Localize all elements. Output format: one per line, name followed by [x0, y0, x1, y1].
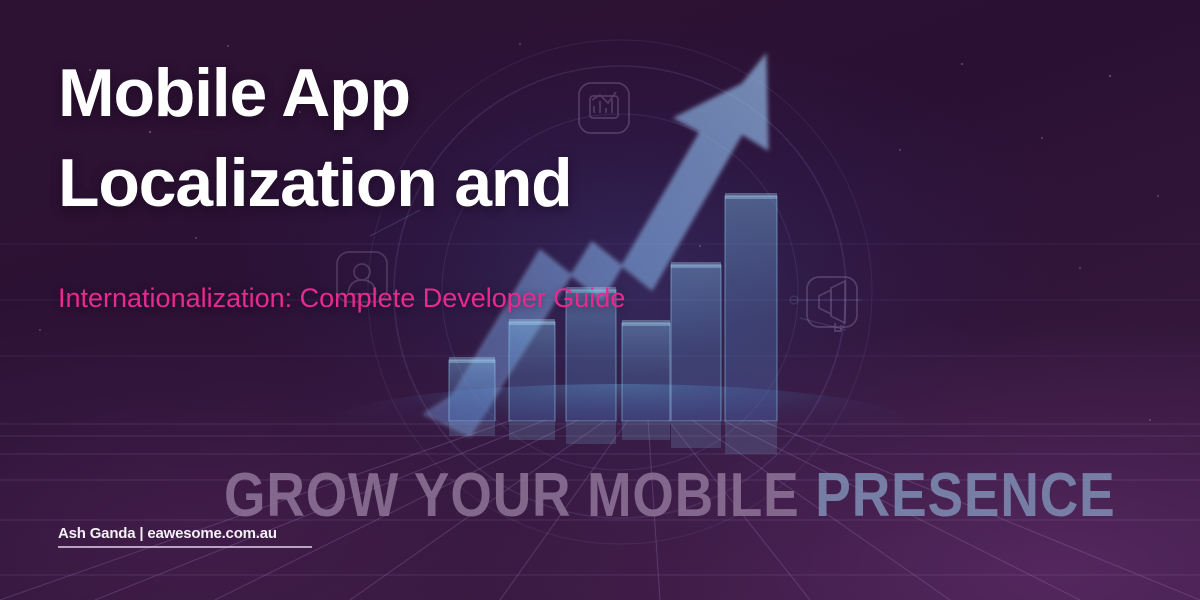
title-line-2: Localization and: [58, 138, 758, 228]
credit-attribution: Ash Ganda | eawesome.com.au: [58, 525, 312, 548]
credit-underline: [58, 546, 312, 548]
banner-content: Mobile App Localization and Internationa…: [0, 0, 1200, 600]
tagline: GROW YOUR MOBILE PRESENCE: [224, 460, 1116, 531]
page-title: Mobile App Localization and: [58, 48, 758, 229]
page-subtitle: Internationalization: Complete Developer…: [58, 283, 625, 314]
title-line-1: Mobile App: [58, 48, 758, 138]
tagline-part-2: PRESENCE: [815, 461, 1115, 530]
blog-banner: Mobile App Localization and Internationa…: [0, 0, 1200, 600]
credit-text: Ash Ganda | eawesome.com.au: [58, 525, 312, 542]
tagline-part-1: GROW YOUR MOBILE: [224, 461, 800, 530]
